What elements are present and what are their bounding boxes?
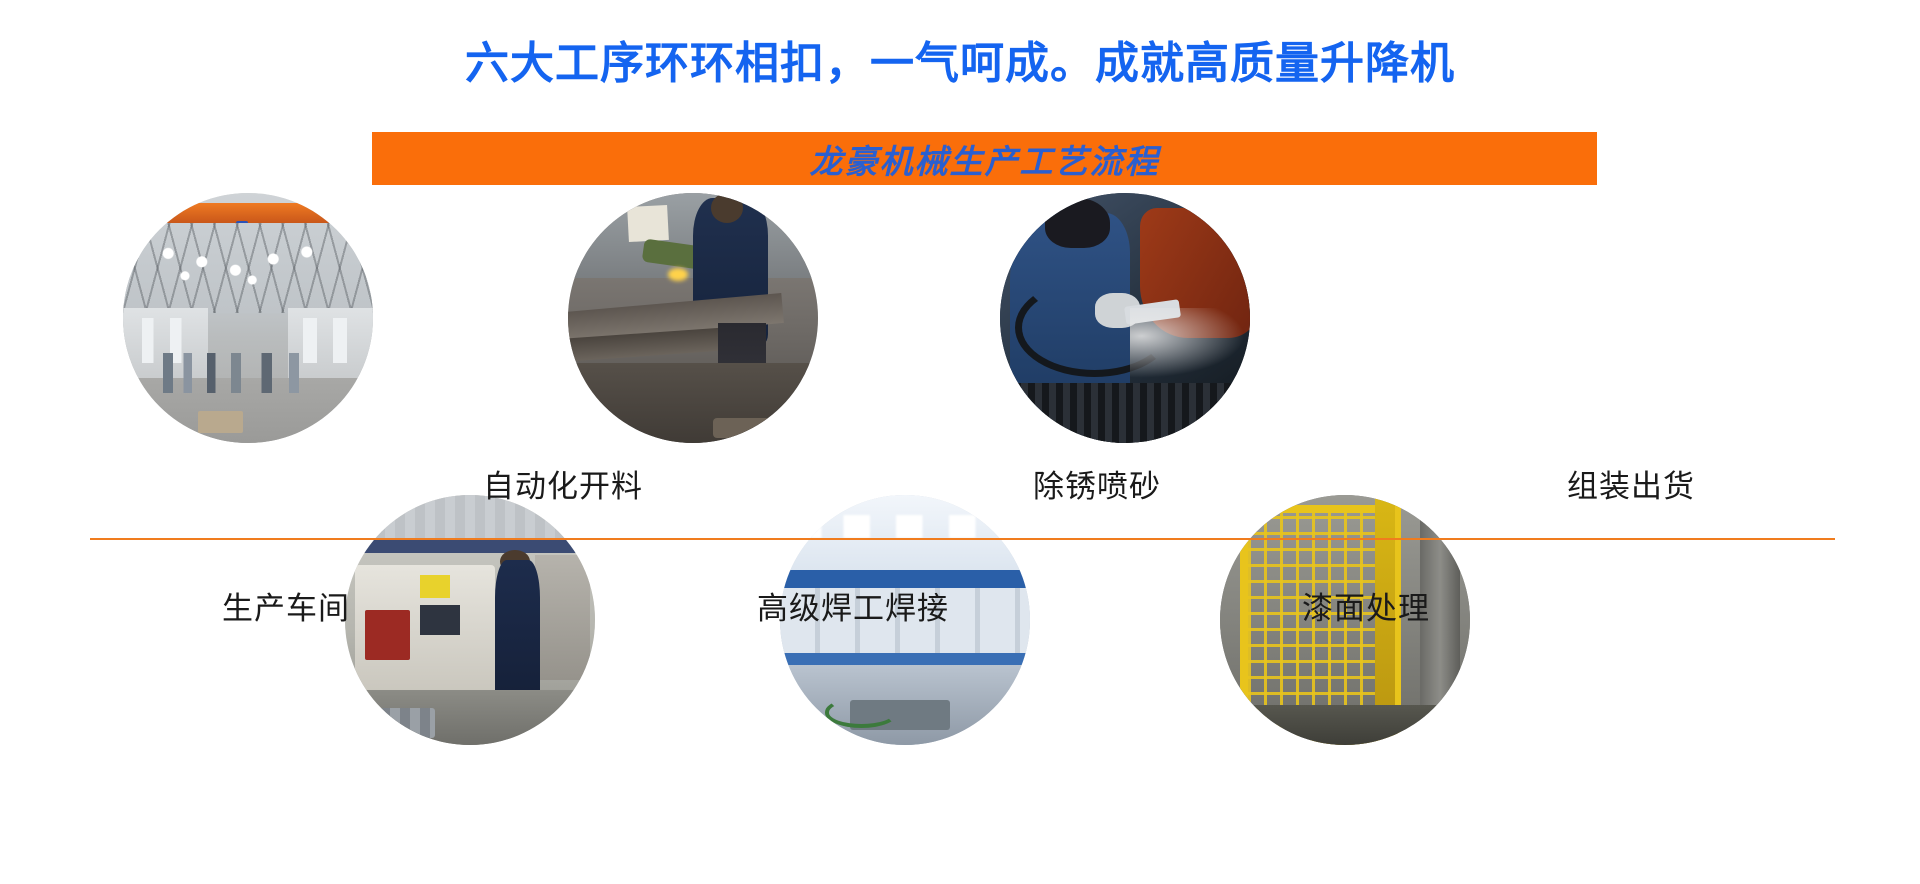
steel-beam-overhead — [345, 540, 595, 553]
cutting-scene — [568, 193, 818, 443]
booth-lights — [795, 515, 1015, 538]
work-table — [568, 363, 818, 443]
section-banner-title: 龙豪机械生产工艺流程 — [372, 132, 1597, 185]
worker-head — [711, 193, 744, 223]
photo-sandblasting — [1000, 193, 1250, 443]
machine-shop-scene — [345, 495, 595, 745]
step-label-painting: 漆面处理 — [1302, 594, 1430, 625]
drawing-sheet — [627, 204, 669, 241]
floor-grate — [1000, 383, 1250, 443]
booth-band-top — [780, 570, 1030, 588]
step-label-workshop: 生产车间 — [222, 594, 350, 625]
page-headline: 六大工序环环相扣，一气呵成。成就高质量升降机 — [0, 42, 1920, 86]
overhead-crane — [123, 203, 373, 223]
wooden-crate — [198, 411, 243, 434]
step-label-cutting: 自动化开料 — [483, 472, 643, 503]
lathe-screen — [420, 605, 460, 635]
workshop-scene — [123, 193, 373, 443]
step-label-sandblasting: 除锈喷砂 — [1033, 472, 1161, 503]
sandblasting-scene — [1000, 193, 1250, 443]
assembly-floor — [1220, 705, 1470, 745]
booth-band-bottom — [780, 653, 1030, 666]
lathe-label — [420, 575, 450, 598]
machined-parts — [370, 708, 435, 738]
booth-hose — [825, 697, 898, 728]
section-divider — [90, 538, 1835, 540]
operator-helmet — [1045, 198, 1110, 248]
lathe-red-panel — [365, 610, 410, 660]
step-label-assembly: 组装出货 — [1567, 472, 1695, 503]
photo-machine-shop — [345, 495, 595, 745]
section-banner: 龙豪机械生产工艺流程 — [372, 132, 1597, 185]
photo-workshop-interior — [123, 193, 373, 443]
photo-automated-cutting — [568, 193, 818, 443]
blast-spray — [1130, 308, 1245, 378]
cutting-spark — [668, 268, 688, 281]
worker-shoe — [713, 418, 773, 438]
ceiling-lamps — [143, 238, 353, 308]
step-label-welding: 高级焊工焊接 — [757, 594, 949, 625]
machines-row — [163, 353, 333, 393]
operator-body — [495, 560, 540, 705]
machine-cabinet — [535, 555, 590, 680]
